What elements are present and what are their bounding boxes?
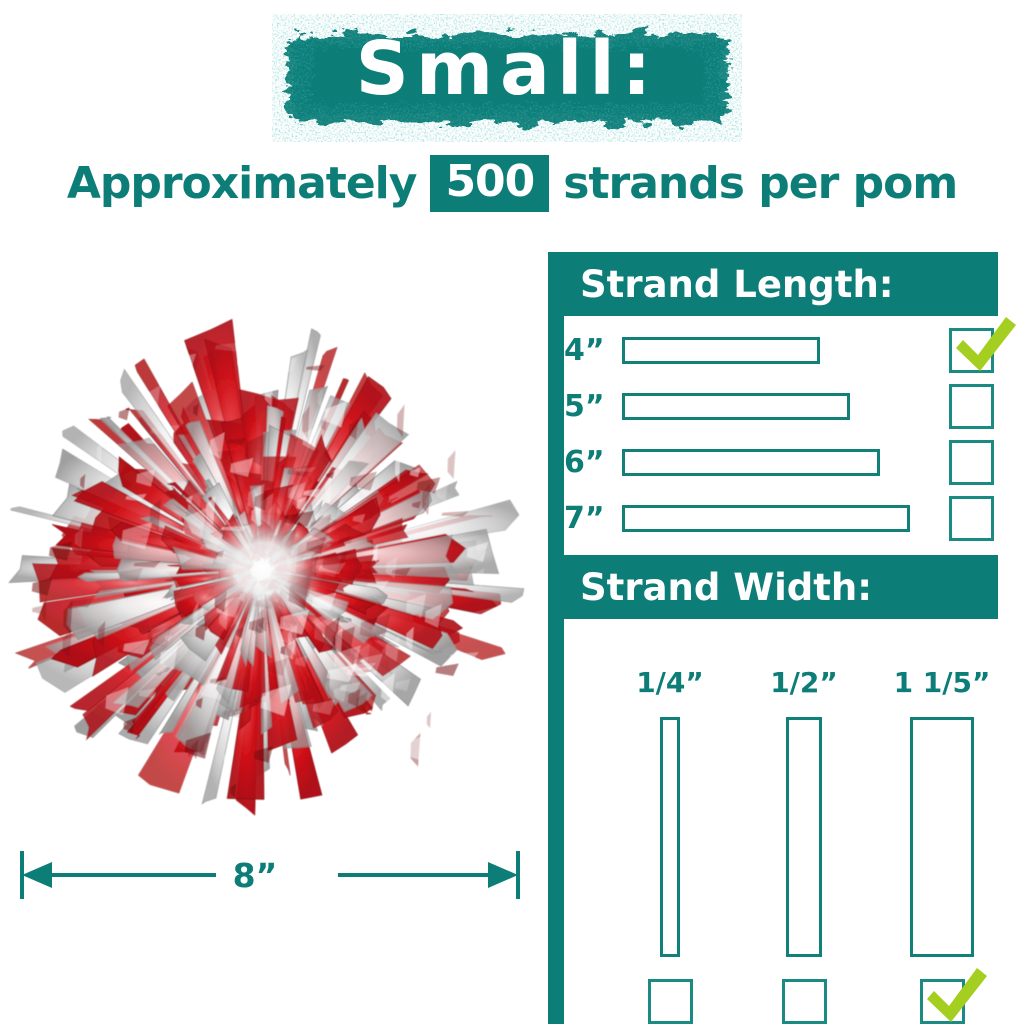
strand-length-label: 5” xyxy=(564,389,622,424)
strand-length-header: Strand Length: xyxy=(548,252,998,316)
infographic-canvas: Small: Approximately 500 strands per pom xyxy=(0,0,1024,1024)
subtitle-prefix: Approximately xyxy=(67,158,417,209)
page-title: Small: xyxy=(272,14,742,142)
pom-highlight xyxy=(395,724,425,738)
pom-highlight xyxy=(119,408,130,420)
strand-width-checkbox[interactable] xyxy=(648,979,693,1024)
strand-width-label: 1/2” xyxy=(770,666,838,699)
strand-length-checkbox[interactable] xyxy=(949,328,994,373)
strand-length-row[interactable]: 5” xyxy=(564,378,1000,434)
pom-highlight xyxy=(237,358,252,367)
pom-highlight xyxy=(427,712,431,729)
strand-width-label: 1/4” xyxy=(636,666,704,699)
strand-width-checkbox[interactable] xyxy=(782,979,827,1024)
strand-length-options: 4”5”6”7” xyxy=(564,322,1000,546)
checkmark-icon xyxy=(921,966,989,1028)
pom-highlight xyxy=(416,423,445,441)
strand-length-row[interactable]: 6” xyxy=(564,434,1000,490)
strand-width-column[interactable]: 1 1/5” xyxy=(882,666,1002,1024)
strand-width-column[interactable]: 1/4” xyxy=(610,666,730,1024)
strand-length-row[interactable]: 4” xyxy=(564,322,1000,378)
checkmark-icon xyxy=(950,315,1018,377)
strand-width-options: 1/4”1/2”1 1/5” xyxy=(564,627,1000,1024)
strand-count-badge: 500 xyxy=(430,155,549,212)
pom-highlight xyxy=(447,450,455,479)
title-brush-banner: Small: xyxy=(272,14,742,142)
strand-width-bar xyxy=(660,717,680,957)
strand-length-bar xyxy=(622,449,880,476)
strand-width-column[interactable]: 1/2” xyxy=(744,666,864,1024)
strand-length-label: 7” xyxy=(564,501,622,536)
strand-length-checkbox[interactable] xyxy=(949,384,994,429)
strand-width-bar xyxy=(786,717,822,957)
specs-panel: Strand Length: 4”5”6”7” Strand Width: 1/… xyxy=(548,252,1000,1024)
pom-highlight xyxy=(464,684,472,705)
strand-length-checkbox[interactable] xyxy=(949,440,994,485)
strand-length-row[interactable]: 7” xyxy=(564,490,1000,546)
strand-length-bar xyxy=(622,393,850,420)
pom-highlight xyxy=(433,689,455,694)
strand-length-bar xyxy=(622,337,820,364)
strand-length-label: 6” xyxy=(564,445,622,480)
pom-highlight xyxy=(280,784,291,805)
panel-left-spine xyxy=(548,252,564,1024)
strand-length-label: 4” xyxy=(564,333,622,368)
strand-width-label: 1 1/5” xyxy=(894,666,991,699)
dimension-label: 8” xyxy=(0,845,510,905)
strand-width-checkbox[interactable] xyxy=(920,979,965,1024)
pom-highlight xyxy=(170,354,196,373)
subtitle-suffix: strands per pom xyxy=(563,158,957,209)
strand-width-bar xyxy=(910,717,974,957)
pom-highlight xyxy=(400,736,426,760)
strand-width-header: Strand Width: xyxy=(548,555,998,619)
pom-pom-image xyxy=(0,318,534,848)
pom-highlight xyxy=(62,692,69,708)
pom-highlight xyxy=(460,455,469,460)
strand-length-bar xyxy=(622,505,910,532)
subtitle-line: Approximately 500 strands per pom xyxy=(0,150,1024,216)
strand-length-checkbox[interactable] xyxy=(949,496,994,541)
